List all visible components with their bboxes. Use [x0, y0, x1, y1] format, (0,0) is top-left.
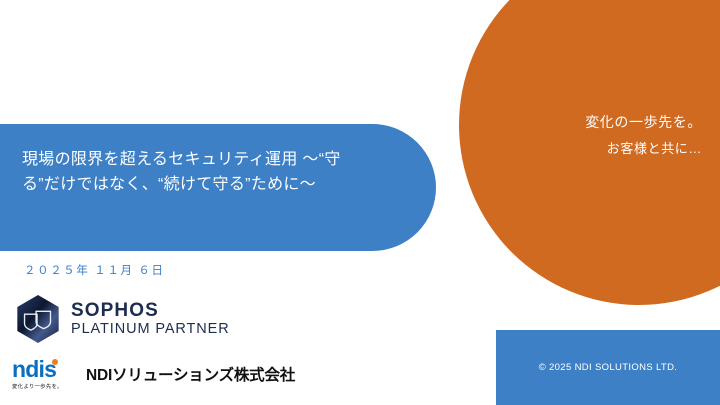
presentation-date: ２０２５年 １１月 ６日	[24, 262, 165, 278]
sophos-hexagon-shield-icon	[14, 294, 62, 344]
ndi-company-logo: ndis 変化より一歩先を。 NDIソリューションズ株式会社	[12, 358, 295, 390]
ndis-logomark: ndis 変化より一歩先を。	[12, 358, 74, 390]
ndis-wordmark: ndis	[12, 359, 74, 381]
copyright-notice: © 2025 NDI SOLUTIONS LTD.	[496, 330, 720, 405]
presentation-title-slide: 現場の限界を超えるセキュリティ運用 ～“守 る”だけではなく、“続けて守る”ため…	[0, 0, 720, 405]
sophos-partner-tier: PLATINUM PARTNER	[71, 322, 230, 337]
sophos-logo-text: SOPHOS PLATINUM PARTNER	[71, 301, 230, 337]
sophos-brand-name: SOPHOS	[71, 301, 230, 320]
corporate-tagline: 変化の一歩先を。 お客様と共に…	[585, 108, 702, 162]
slide-title-line-2: る”だけではなく、“続けて守る”ために～	[22, 173, 402, 198]
ndis-slogan: 変化より一歩先を。	[12, 383, 77, 390]
company-name: NDIソリューションズ株式会社	[86, 358, 295, 385]
ndis-orange-dot-icon	[52, 359, 58, 365]
slide-title: 現場の限界を超えるセキュリティ運用 ～“守 る”だけではなく、“続けて守る”ため…	[22, 148, 402, 198]
corporate-tagline-line-2: お客様と共に…	[585, 136, 702, 162]
slide-title-line-1: 現場の限界を超えるセキュリティ運用 ～“守	[22, 148, 402, 173]
sophos-partner-logo: SOPHOS PLATINUM PARTNER	[14, 294, 230, 344]
corporate-tagline-line-1: 変化の一歩先を。	[585, 108, 702, 136]
